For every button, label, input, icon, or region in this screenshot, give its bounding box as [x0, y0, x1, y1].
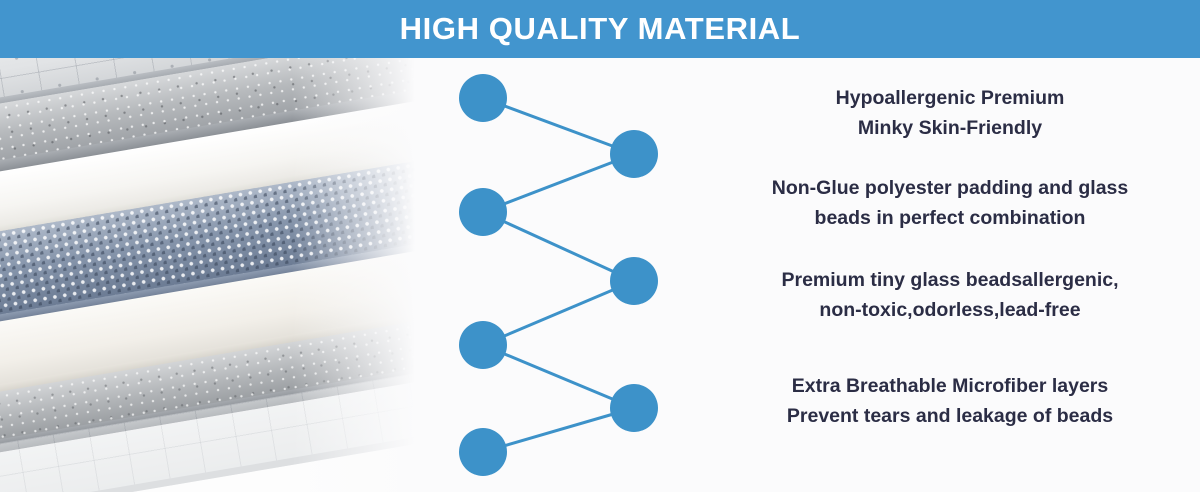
feature-line-2: beads in perfect combination [700, 204, 1200, 234]
node-left-3[interactable] [459, 321, 507, 369]
node-right-1[interactable] [610, 130, 658, 178]
feature-line-1: Non-Glue polyester padding and glass [700, 174, 1200, 204]
node-left-2[interactable] [459, 188, 507, 236]
feature-line-2: Prevent tears and leakage of beads [700, 402, 1200, 432]
product-layer-photo [0, 58, 442, 492]
feature-list: Hypoallergenic Premium Minky Skin-Friend… [700, 58, 1200, 492]
feature-line-2: non-toxic,odorless,lead-free [700, 296, 1200, 326]
feature-microfiber: Extra Breathable Microfiber layers Preve… [700, 372, 1200, 431]
feature-line-2: Minky Skin-Friendly [700, 114, 1200, 144]
connector-nodes [459, 74, 658, 476]
connector-left2-right2 [483, 212, 634, 281]
page-title: HIGH QUALITY MATERIAL [400, 11, 801, 47]
node-right-3[interactable] [610, 384, 658, 432]
connector-left2-right1 [483, 154, 634, 212]
connector-left1-right1 [483, 98, 634, 154]
connector-diagram-svg [440, 58, 702, 492]
connector-diagram [440, 58, 702, 492]
feature-line-1: Premium tiny glass beadsallergenic, [700, 266, 1200, 296]
node-left-1[interactable] [459, 74, 507, 122]
feature-line-1: Hypoallergenic Premium [700, 84, 1200, 114]
infographic-root: HIGH QUALITY MATERIAL [0, 0, 1200, 492]
feature-hypoallergenic: Hypoallergenic Premium Minky Skin-Friend… [700, 84, 1200, 143]
connector-left3-right2 [483, 281, 634, 345]
photo-right-fade [292, 58, 442, 492]
feature-non-glue-padding: Non-Glue polyester padding and glass bea… [700, 174, 1200, 233]
feature-line-1: Extra Breathable Microfiber layers [700, 372, 1200, 402]
connector-left3-right3 [483, 345, 634, 408]
node-left-4[interactable] [459, 428, 507, 476]
node-right-2[interactable] [610, 257, 658, 305]
header-banner: HIGH QUALITY MATERIAL [0, 0, 1200, 58]
feature-glass-beads: Premium tiny glass beadsallergenic, non-… [700, 266, 1200, 325]
